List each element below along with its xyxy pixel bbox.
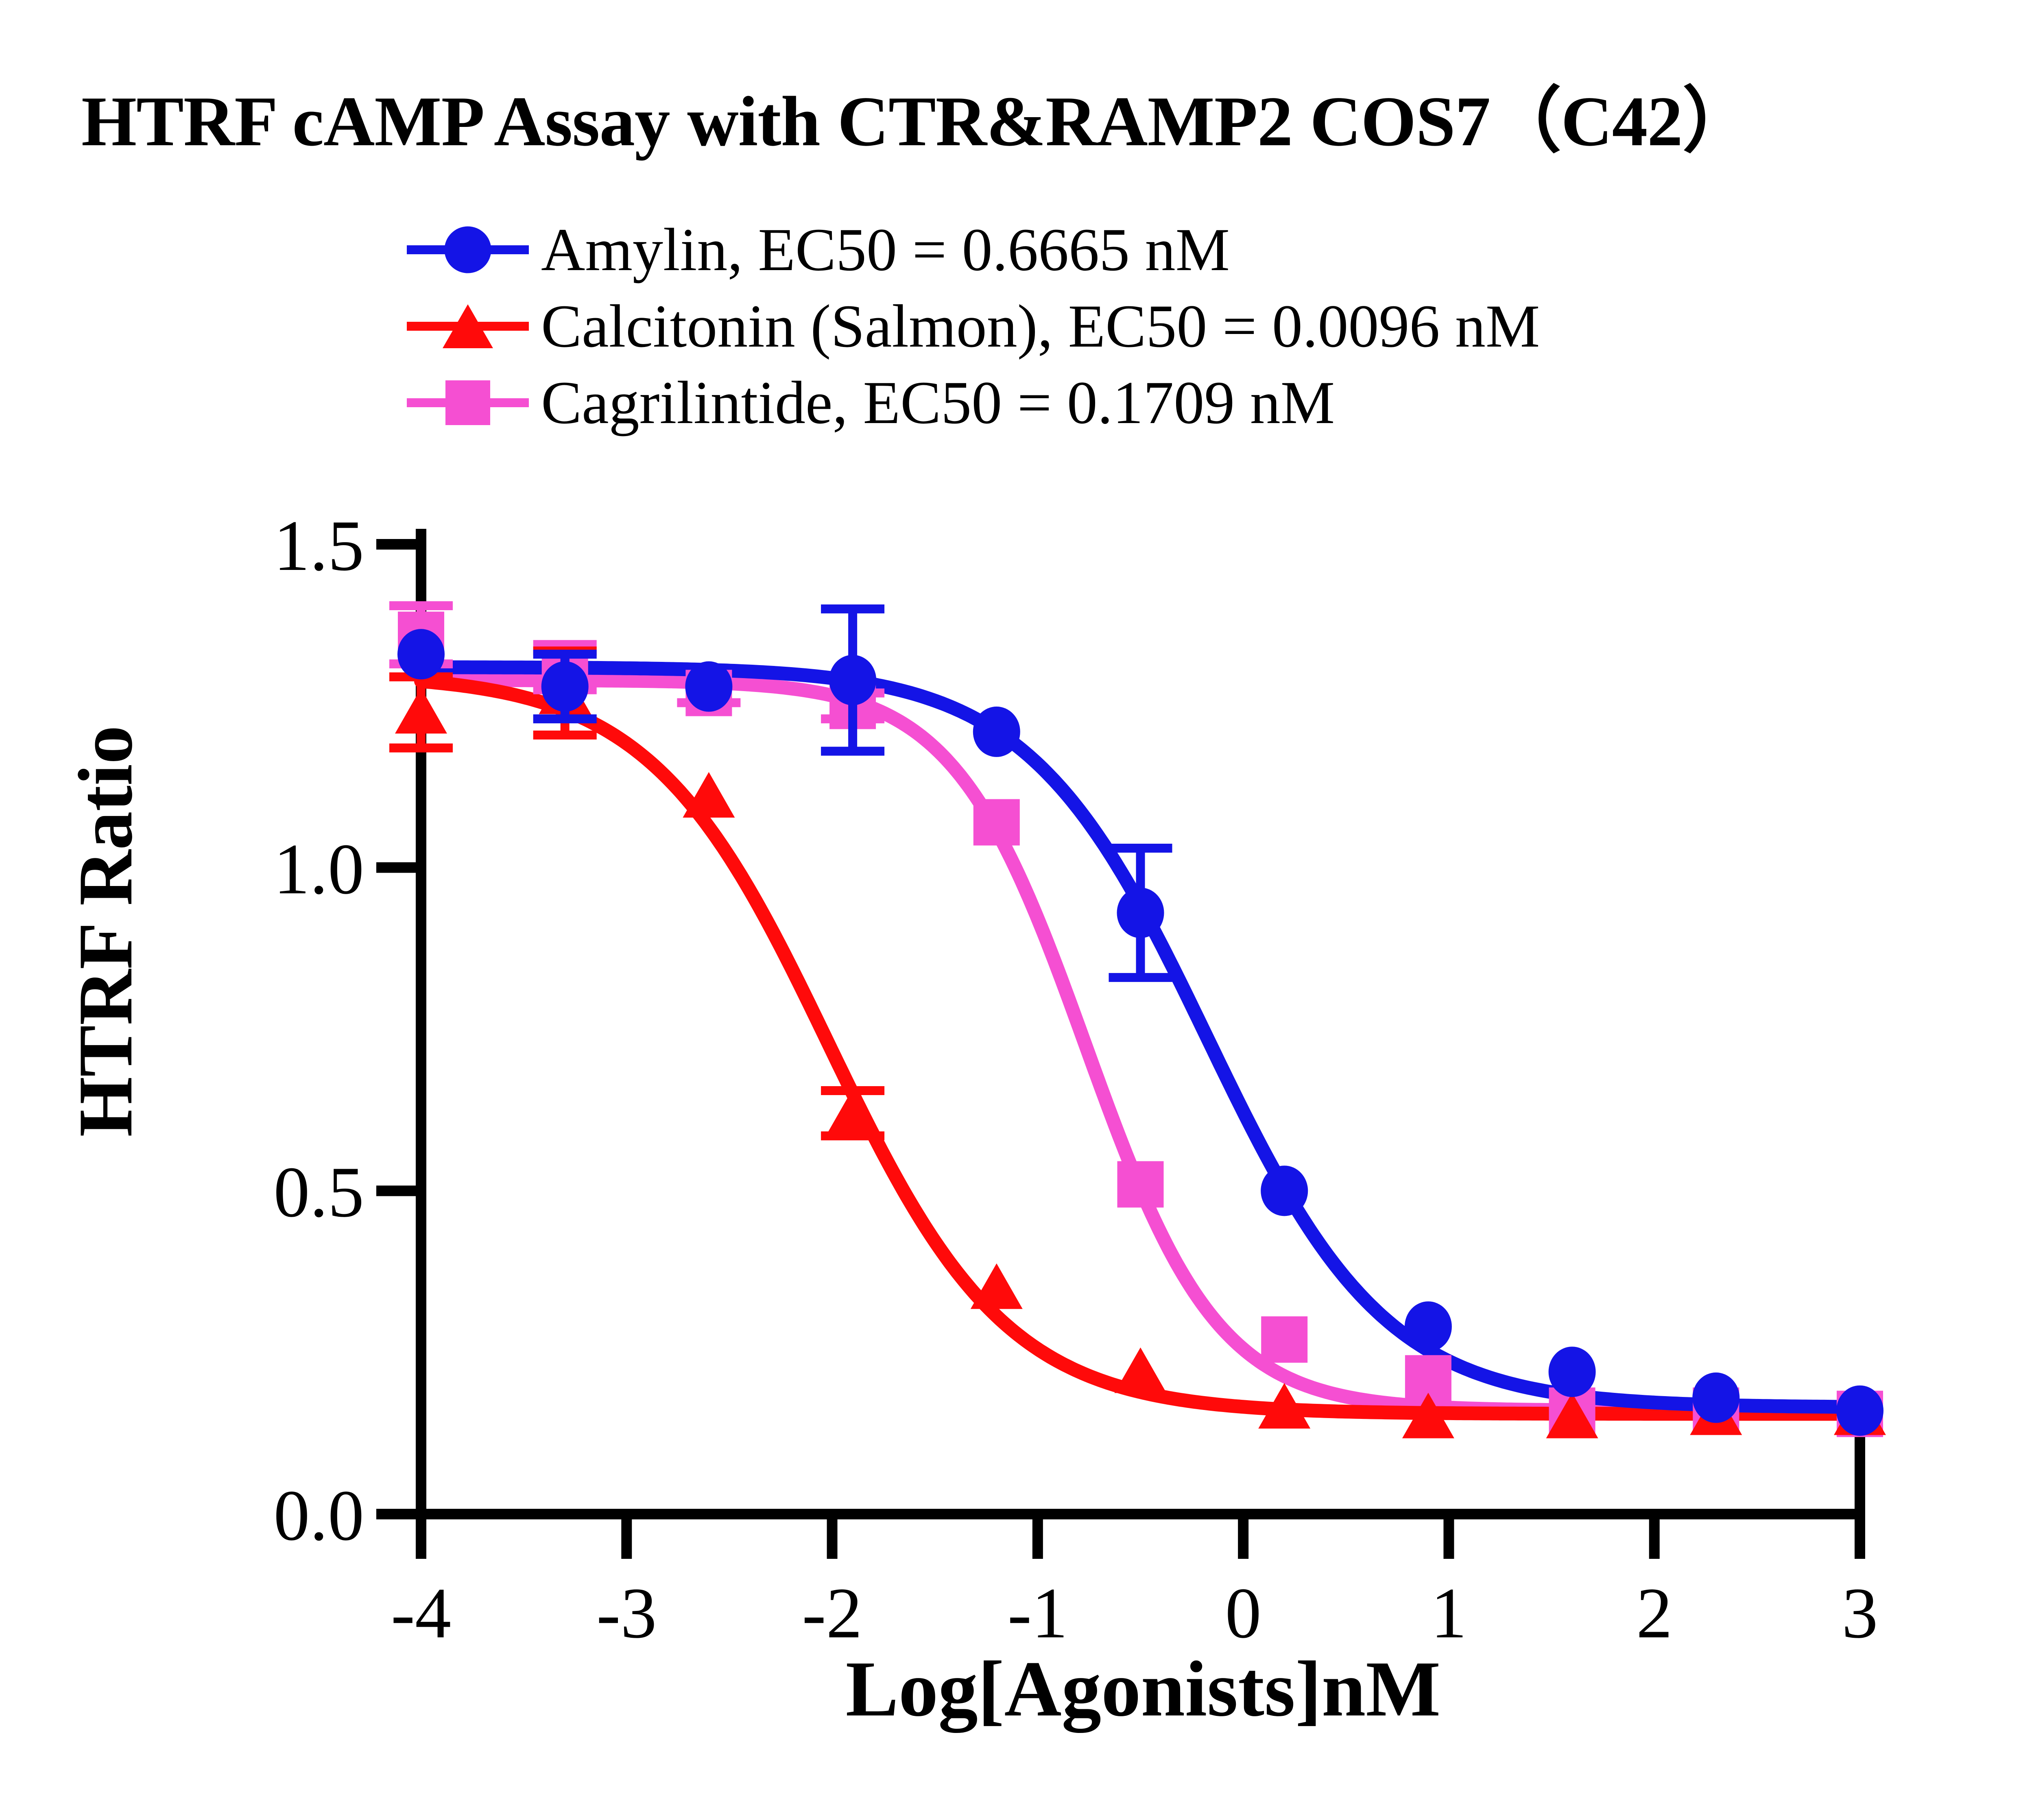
data-point-triangle — [971, 1264, 1023, 1309]
data-point-triangle — [1690, 1390, 1742, 1435]
circle-marker-icon — [445, 227, 491, 273]
data-point-triangle — [1546, 1393, 1598, 1438]
series-amylin — [397, 609, 1883, 1436]
data-point-circle — [541, 661, 589, 712]
data-point-square — [1405, 1355, 1451, 1401]
legend-label-cagrilintide: Cagrilintide, EC50 = 0.1709 nM — [529, 368, 1335, 438]
legend-key-amylin — [407, 223, 529, 276]
chart-legend: Amylin, EC50 = 0.6665 nM Calcitonin (Sal… — [407, 212, 2034, 441]
data-point-circle — [685, 661, 732, 712]
data-point-square — [1261, 1316, 1307, 1363]
square-marker-icon — [445, 380, 490, 425]
error-bar — [389, 677, 453, 748]
data-point-circle — [1117, 888, 1164, 938]
x-tick-label: 2 — [1593, 1571, 1715, 1655]
series-cagrilintide — [389, 606, 1883, 1437]
data-point-triangle — [827, 1089, 879, 1135]
x-tick-label: -3 — [565, 1571, 687, 1655]
y-tick-label: 0.5 — [136, 1150, 364, 1234]
legend-item-cagrilintide: Cagrilintide, EC50 = 0.1709 nM — [407, 364, 2034, 441]
data-point-triangle — [539, 669, 591, 714]
error-bar — [821, 609, 884, 751]
x-tick-label: -1 — [977, 1571, 1099, 1655]
x-tick-label: -4 — [360, 1571, 482, 1655]
series-line-cagrilintide — [421, 680, 1860, 1411]
data-point-square — [542, 644, 588, 690]
data-point-circle — [829, 655, 876, 705]
legend-key-calcitonin — [407, 300, 529, 353]
error-bar — [389, 606, 453, 664]
data-point-triangle — [1115, 1347, 1167, 1393]
data-point-triangle — [1258, 1383, 1310, 1429]
data-point-square — [1117, 1161, 1164, 1207]
data-point-square — [685, 670, 732, 716]
legend-key-cagrilintide — [407, 376, 529, 429]
x-tick-label: 1 — [1388, 1571, 1510, 1655]
error-bar — [533, 651, 597, 735]
x-tick-label: 0 — [1182, 1571, 1304, 1655]
error-bar — [821, 693, 884, 719]
error-bar — [533, 654, 597, 719]
series-line-amylin — [421, 667, 1860, 1407]
error-bar — [533, 644, 597, 690]
legend-label-calcitonin: Calcitonin (Salmon), EC50 = 0.0096 nM — [529, 291, 1540, 361]
data-point-circle — [1836, 1386, 1883, 1436]
data-point-square — [1549, 1388, 1595, 1434]
y-tick-label: 1.5 — [136, 504, 364, 587]
data-point-circle — [397, 629, 445, 679]
data-point-triangle — [1402, 1393, 1454, 1438]
data-point-circle — [1405, 1301, 1452, 1352]
error-bar — [821, 1091, 884, 1136]
chart-canvas: HTRF cAMP Assay with CTR&RAMP2 COS7（C42）… — [0, 0, 2034, 1820]
error-bar — [1109, 848, 1172, 978]
series-line-calcitonin--salmon- — [421, 681, 1860, 1414]
x-axis-label: Log[Agonists]nM — [419, 1643, 1867, 1735]
data-point-circle — [973, 707, 1020, 757]
series-calcitonin--salmon- — [389, 651, 1886, 1438]
data-point-square — [829, 683, 876, 729]
y-tick-label: 1.0 — [136, 827, 364, 911]
data-point-square — [398, 612, 444, 658]
data-point-triangle — [1834, 1390, 1886, 1435]
x-tick-label: -2 — [771, 1571, 893, 1655]
data-point-square — [1693, 1388, 1739, 1434]
error-bar — [677, 683, 740, 703]
data-point-square — [1837, 1391, 1883, 1437]
triangle-marker-icon — [443, 304, 493, 348]
x-tick-label: 3 — [1799, 1571, 1921, 1655]
data-point-square — [973, 799, 1020, 845]
legend-label-amylin: Amylin, EC50 = 0.6665 nM — [529, 215, 1230, 285]
data-point-circle — [1261, 1165, 1308, 1216]
y-axis-label: HTRF Ratio — [61, 687, 150, 1175]
data-point-triangle — [683, 772, 735, 818]
legend-item-amylin: Amylin, EC50 = 0.6665 nM — [407, 212, 2034, 288]
legend-item-calcitonin: Calcitonin (Salmon), EC50 = 0.0096 nM — [407, 288, 2034, 364]
data-point-triangle — [395, 688, 447, 733]
data-point-circle — [1692, 1373, 1739, 1423]
y-tick-label: 0.0 — [136, 1473, 364, 1557]
data-point-circle — [1549, 1346, 1596, 1397]
chart-title: HTRF cAMP Assay with CTR&RAMP2 COS7（C42） — [81, 63, 2034, 166]
